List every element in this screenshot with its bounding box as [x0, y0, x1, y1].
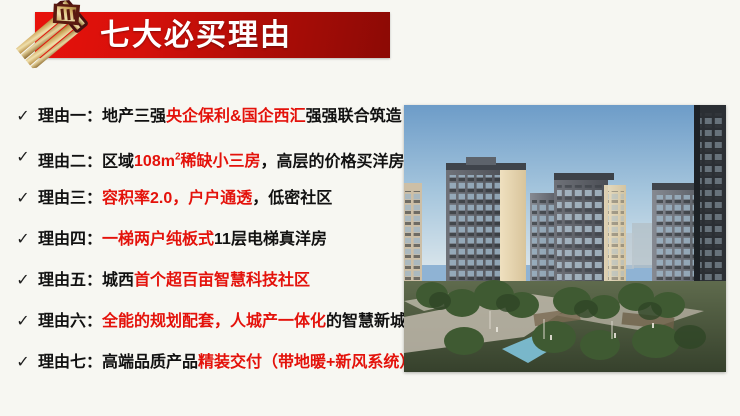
header-banner-area: 七大必买理由 [0, 0, 740, 78]
list-item-text: 理由五：城西首个超百亩智慧科技社区 [38, 260, 310, 301]
list-item: ✓理由六：全能的规划配套，人城产一体化的智慧新城 [0, 301, 400, 342]
page-title: 七大必买理由 [100, 15, 292, 57]
list-item-segment: 首个超百亩智慧科技社区 [134, 272, 310, 289]
list-item-segment: 城西 [102, 272, 134, 289]
list-item-segment: 一梯两户纯板式 [102, 231, 214, 248]
list-item-segment: 高端品质产品 [102, 354, 198, 371]
list-item-segment: ，低密社区 [252, 190, 332, 207]
list-item-text: 理由一：地产三强央企保利&国企西汇强强联合筑造 [38, 96, 402, 137]
list-item-segment: 区域 [102, 153, 134, 170]
check-icon: ✓ [12, 301, 34, 342]
list-item-label: 理由五： [38, 272, 102, 289]
check-icon: ✓ [12, 178, 34, 219]
list-item-segment: 容积率2.0，户户通透 [102, 190, 252, 207]
list-item: ✓理由七：高端品质产品精装交付（带地暖+新风系统） [0, 342, 400, 383]
list-item-segment: 全能的规划配套，人城产一体化 [102, 313, 326, 330]
list-item-text: 理由三：容积率2.0，户户通透，低密社区 [38, 178, 332, 219]
list-item-segment: 的智慧新城 [326, 313, 406, 330]
list-item-label: 理由一： [38, 108, 102, 125]
list-item-label: 理由七： [38, 354, 102, 371]
list-item: ✓理由三：容积率2.0，户户通透，低密社区 [0, 178, 400, 219]
check-icon: ✓ [12, 219, 34, 260]
list-item-text: 理由六：全能的规划配套，人城产一体化的智慧新城 [38, 301, 406, 342]
gold-scroll-ribbon-icon [10, 0, 94, 70]
list-item-label: 理由三： [38, 190, 102, 207]
check-icon: ✓ [12, 260, 34, 301]
list-item-segment: 108m2稀缺小三房 [134, 153, 261, 170]
check-icon: ✓ [12, 342, 34, 383]
list-item-text: 理由七：高端品质产品精装交付（带地暖+新风系统） [38, 342, 415, 383]
list-item-segment: 央企保利&国企西汇 [166, 108, 306, 125]
list-item: ✓理由一：地产三强央企保利&国企西汇强强联合筑造 [0, 96, 400, 137]
reasons-list: ✓理由一：地产三强央企保利&国企西汇强强联合筑造✓理由二：区域108m2稀缺小三… [0, 96, 400, 383]
list-item-label: 理由四： [38, 231, 102, 248]
list-item-segment: ，高层的价格买洋房 [261, 153, 405, 170]
residential-complex-rendering [404, 105, 726, 372]
list-item: ✓理由四：一梯两户纯板式11层电梯真洋房 [0, 219, 400, 260]
list-item-text: 理由二：区域108m2稀缺小三房，高层的价格买洋房 [38, 137, 405, 182]
list-item-label: 理由二： [38, 153, 102, 170]
list-item-segment: 精装交付（带地暖+新风系统） [198, 354, 415, 371]
list-item-segment: 地产三强 [102, 108, 166, 125]
list-item-label: 理由六： [38, 313, 102, 330]
list-item: ✓理由五：城西首个超百亩智慧科技社区 [0, 260, 400, 301]
list-item-segment: 强强联合筑造 [306, 108, 402, 125]
list-item-text: 理由四：一梯两户纯板式11层电梯真洋房 [38, 219, 327, 260]
list-item-segment: 11层电梯真洋房 [214, 231, 327, 248]
list-item: ✓理由二：区域108m2稀缺小三房，高层的价格买洋房 [0, 137, 400, 178]
check-icon: ✓ [12, 96, 34, 137]
check-icon: ✓ [12, 137, 34, 178]
